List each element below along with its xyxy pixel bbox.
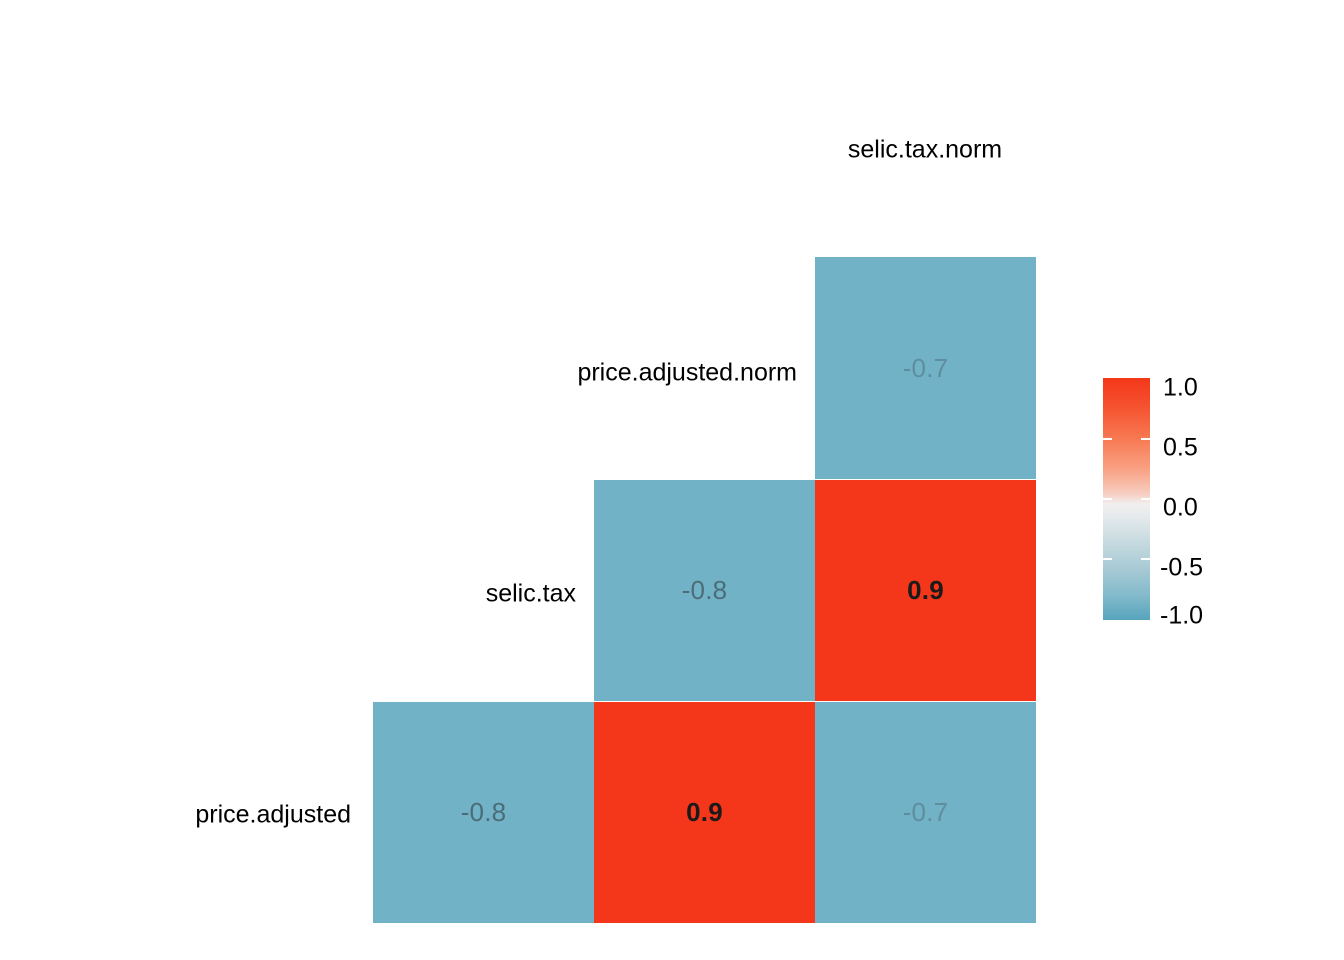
heatmap-cell-selic-tax-selic-tax-norm[interactable]: 0.9 [815,480,1036,701]
row-label-price-adjusted-norm: price.adjusted.norm [255,359,815,388]
colorbar-gradient [1103,378,1150,620]
heatmap-cell-value: -0.8 [373,702,594,923]
legend-tick-label-minus1: -1.0 [1160,602,1203,631]
heatmap-cell-selic-tax-price-adjusted-norm[interactable]: -0.8 [594,480,815,701]
legend-tick-label-0: 0.0 [1163,494,1198,523]
row-label-selic-tax: selic.tax [34,580,594,609]
colorbar-tick-mark [1103,498,1112,500]
colorbar-tick-mark [1103,558,1112,560]
column-label-selic-tax-norm: selic.tax.norm [848,136,1002,165]
legend-tick-label-0point5: 0.5 [1163,434,1198,463]
correlation-heatmap-figure: selic.tax.norm price.adjusted.norm selic… [0,0,1344,960]
heatmap-cell-value: -0.7 [815,702,1036,923]
heatmap-cell-price-adjusted-norm-selic-tax-norm[interactable]: -0.7 [815,257,1036,479]
colorbar-tick-mark [1141,558,1150,560]
heatmap-cell-price-adjusted-selic-tax-norm[interactable]: -0.7 [815,702,1036,923]
heatmap-cell-price-adjusted-price-adjusted[interactable]: -0.8 [373,702,594,923]
colorbar-tick-mark [1103,438,1112,440]
colorbar-tick-mark [1141,438,1150,440]
row-label-price-adjusted: price.adjusted [0,801,373,830]
heatmap-cell-value: 0.9 [815,480,1036,701]
heatmap-cell-value: -0.7 [815,257,1036,479]
heatmap-cell-price-adjusted-price-adjusted-norm[interactable]: 0.9 [594,702,815,923]
heatmap-cell-value: 0.9 [594,702,815,923]
color-legend: 1.0 0.5 0.0 -0.5 -1.0 [1103,378,1233,620]
heatmap-cell-value: -0.8 [594,480,815,701]
colorbar-tick-mark [1141,498,1150,500]
legend-tick-label-minus0point5: -0.5 [1160,554,1203,583]
legend-tick-label-1: 1.0 [1163,374,1198,403]
